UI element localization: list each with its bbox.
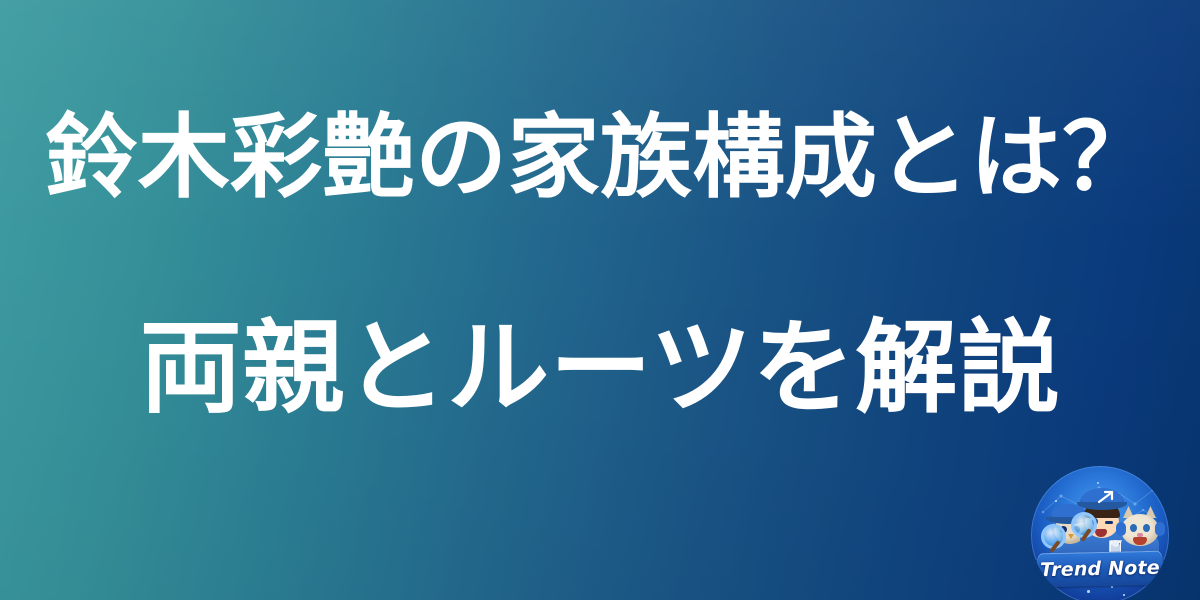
logo-ribbon: Trend Note [1037,551,1164,588]
sparkle-icon [1123,594,1125,596]
logo-circle-background: Trend Note [1031,466,1169,600]
headline-line-1: 鈴木彩艶の家族構成とは？ [0,112,1200,204]
logo-ribbon-label: Trend Note [1037,551,1164,588]
arrow-up-right-icon [1097,490,1115,504]
headphone-icon [1155,522,1165,536]
sparkle-icon [1111,586,1113,588]
trend-note-logo[interactable]: Trend Note [1031,466,1169,600]
headline-block: 鈴木彩艶の家族構成とは？ 両親とルーツを解説 [0,0,1200,600]
thumbnail-banner: 鈴木彩艶の家族構成とは？ 両親とルーツを解説 [0,0,1200,600]
headphone-icon [1116,522,1126,536]
sparkle-icon [1097,482,1099,484]
sparkle-icon [1087,590,1090,593]
headline-line-2: 両親とルーツを解説 [0,318,1200,420]
